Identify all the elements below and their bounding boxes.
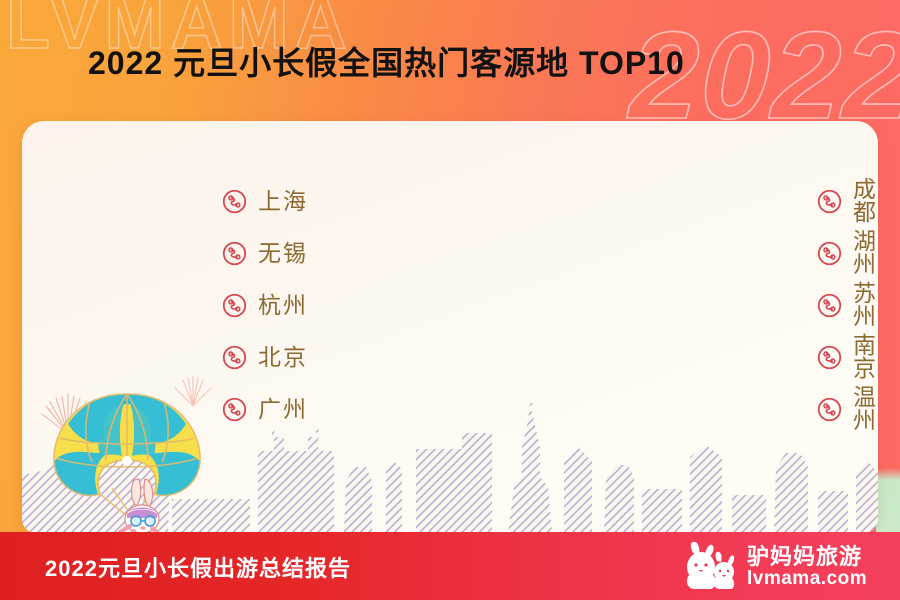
- city-name: 南京: [853, 334, 878, 380]
- list-item[interactable]: 上海: [222, 175, 339, 227]
- city-name: 苏州: [853, 282, 878, 328]
- city-name: 广州: [258, 398, 308, 421]
- route-pin-icon: [817, 397, 842, 422]
- city-name: 上海: [258, 190, 308, 213]
- city-name: 湖州: [853, 230, 878, 276]
- two-rabbits-logo-mark: [683, 541, 745, 593]
- route-pin-icon: [817, 241, 842, 266]
- lvmama-logo[interactable]: 驴妈妈旅游 lvmama.com: [683, 540, 878, 594]
- content-card: 上海 无锡: [22, 121, 878, 533]
- route-pin-icon: [222, 241, 247, 266]
- ranking-list: 上海 无锡: [22, 175, 878, 435]
- route-pin-icon: [222, 293, 247, 318]
- list-item[interactable]: 南京: [817, 331, 878, 383]
- city-name: 温州: [853, 386, 878, 432]
- footer-bar: 2022元旦小长假出游总结报告 驴妈妈旅游: [0, 532, 900, 600]
- list-item[interactable]: 无锡: [222, 227, 339, 279]
- poster-root: LVMAMA 2022 2022 元旦小长假全国热门客源地 TOP10: [0, 0, 900, 600]
- list-item[interactable]: 湖州: [817, 227, 878, 279]
- list-item[interactable]: 成都: [817, 175, 878, 227]
- list-item[interactable]: 温州: [817, 383, 878, 435]
- route-pin-icon: [222, 397, 247, 422]
- route-pin-icon: [222, 189, 247, 214]
- route-pin-icon: [222, 345, 247, 370]
- logo-text-block: 驴妈妈旅游 lvmama.com: [747, 545, 867, 588]
- route-pin-icon: [817, 345, 842, 370]
- city-name: 北京: [258, 346, 308, 369]
- list-item[interactable]: 北京: [222, 331, 339, 383]
- route-pin-icon: [817, 189, 842, 214]
- page-title: 2022 元旦小长假全国热门客源地 TOP10: [88, 44, 685, 82]
- list-item[interactable]: 苏州: [817, 279, 878, 331]
- ranking-column-left: 上海 无锡: [22, 175, 339, 435]
- logo-name-cn: 驴妈妈旅游: [747, 545, 867, 568]
- footer-caption: 2022元旦小长假出游总结报告: [45, 551, 351, 583]
- logo-name-en: lvmama.com: [747, 569, 867, 589]
- city-name: 无锡: [258, 242, 308, 265]
- list-item[interactable]: 杭州: [222, 279, 339, 331]
- ranking-column-right: 成都 湖州: [339, 175, 878, 435]
- route-pin-icon: [817, 293, 842, 318]
- city-name: 成都: [853, 178, 878, 224]
- list-item[interactable]: 广州: [222, 383, 339, 435]
- city-name: 杭州: [258, 294, 308, 317]
